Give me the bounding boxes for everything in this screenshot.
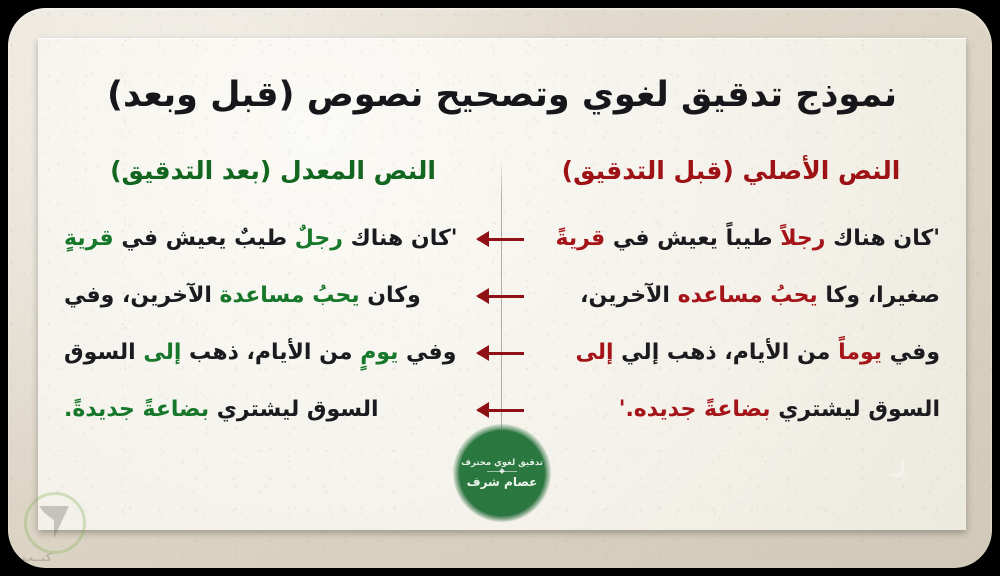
- cell-original-text: 'كان هناك رجلاً طيباً يعيش في قريةً: [556, 210, 941, 267]
- wax-seal-badge: تدقيق لغوي محترف عصام شرف: [459, 430, 545, 516]
- comparison-table: النص الأصلي (قبل التدقيق) النص المعدل (ب…: [38, 156, 966, 456]
- text-segment: السوق: [64, 340, 143, 365]
- cell-original-text: وفي يوماً من الأيام، ذهب إلي إلى: [575, 324, 940, 381]
- text-segment: 'كان هناك: [343, 226, 458, 251]
- sparkle-ornament-icon: [888, 460, 918, 490]
- highlighted-segment: قريةٍ: [64, 226, 114, 251]
- highlighted-segment: رجلٌ: [295, 226, 343, 251]
- highlighted-segment: يحبُ مساعدة: [220, 283, 360, 308]
- text-segment: من الأيام، ذهب إلي: [614, 340, 839, 365]
- page-title: نموذج تدقيق لغوي وتصحيح نصوص (قبل وبعد): [38, 74, 966, 118]
- cell-corrected-text: وفي يومٍ من الأيام، ذهب إلى السوق: [64, 324, 456, 381]
- highlighted-segment: يحبُ مساعده: [678, 283, 818, 308]
- arrow-left-icon: [478, 409, 524, 412]
- cell-corrected-text: 'كان هناك رجلٌ طيبٌ يعيش في قريةٍ: [64, 210, 457, 267]
- text-segment: وفي: [882, 340, 940, 365]
- table-row: وفي يوماً من الأيام، ذهب إلي إلىوفي يومٍ…: [38, 324, 966, 381]
- text-segment: من الأيام، ذهب: [181, 340, 360, 365]
- text-segment: 'كان هناك: [825, 226, 940, 251]
- highlighted-segment: بضاعةً جديدةً.: [64, 397, 209, 422]
- highlighted-segment: يوماً: [838, 340, 882, 365]
- table-body: 'كان هناك رجلاً طيباً يعيش في قريةً'كان …: [38, 210, 966, 438]
- text-segment: السوق ليشتري: [771, 397, 940, 422]
- table-row: 'كان هناك رجلاً طيباً يعيش في قريةً'كان …: [38, 210, 966, 267]
- cell-original-text: صغيرا، وكا يحبُ مساعده الآخرين،: [580, 267, 940, 324]
- outer-card-frame: نموذج تدقيق لغوي وتصحيح نصوص (قبل وبعد) …: [8, 8, 992, 568]
- text-segment: الآخرين،: [580, 283, 678, 308]
- arrow-left-icon: [478, 238, 524, 241]
- text-segment: الآخرين، وفي: [64, 283, 220, 308]
- text-segment: طيباً يعيش في: [605, 226, 780, 251]
- seal-tagline: تدقيق لغوي محترف: [461, 458, 543, 468]
- highlighted-segment: إلى: [575, 340, 613, 365]
- highlighted-segment: رجلاً: [780, 226, 825, 251]
- highlighted-segment: قريةً: [556, 226, 606, 251]
- text-segment: وفي: [398, 340, 456, 365]
- highlighted-segment: بضاعةً جديده.': [619, 397, 771, 422]
- seal-divider-icon: [487, 471, 517, 472]
- highlighted-segment: إلى: [143, 340, 181, 365]
- paper-panel: نموذج تدقيق لغوي وتصحيح نصوص (قبل وبعد) …: [38, 38, 966, 530]
- arrow-left-icon: [478, 352, 524, 355]
- cell-original-text: السوق ليشتري بضاعةً جديده.': [619, 381, 940, 438]
- watermark-label: كتــب: [22, 551, 52, 564]
- text-segment: وكان: [360, 283, 421, 308]
- column-header-before: النص الأصلي (قبل التدقيق): [516, 156, 946, 186]
- highlighted-segment: يومٍ: [360, 340, 398, 365]
- text-segment: طيبٌ يعيش في: [114, 226, 295, 251]
- column-header-after: النص المعدل (بعد التدقيق): [58, 156, 488, 186]
- table-row: صغيرا، وكا يحبُ مساعده الآخرين،وكان يحبُ…: [38, 267, 966, 324]
- cell-corrected-text: وكان يحبُ مساعدة الآخرين، وفي: [64, 267, 421, 324]
- screenshot-root: نموذج تدقيق لغوي وتصحيح نصوص (قبل وبعد) …: [0, 0, 1000, 576]
- cell-corrected-text: السوق ليشتري بضاعةً جديدةً.: [64, 381, 379, 438]
- arrow-left-icon: [478, 295, 524, 298]
- text-segment: السوق ليشتري: [209, 397, 378, 422]
- seal-author-name: عصام شرف: [467, 475, 538, 489]
- text-segment: صغيرا، وكا: [818, 283, 940, 308]
- table-header-row: النص الأصلي (قبل التدقيق) النص المعدل (ب…: [38, 156, 966, 210]
